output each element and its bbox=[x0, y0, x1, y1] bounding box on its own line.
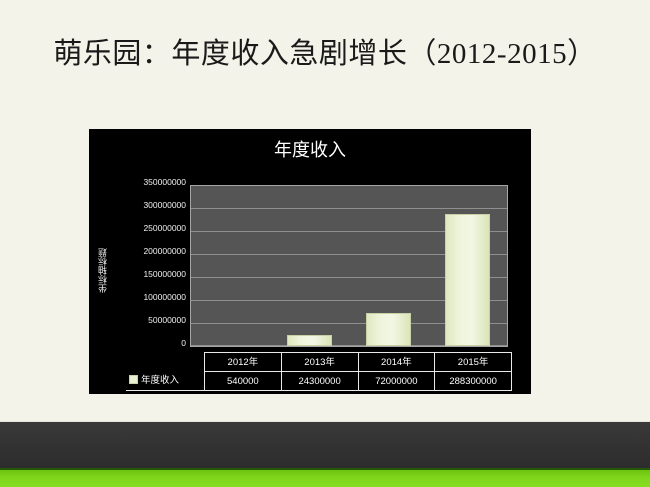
table-row: 年度收入 540000 24300000 72000000 288300000 bbox=[126, 372, 512, 391]
table-cell-2014: 72000000 bbox=[358, 372, 435, 391]
table-header-2013: 2013年 bbox=[281, 353, 358, 372]
legend-swatch-icon bbox=[129, 375, 138, 384]
y-tick-label: 300000000 bbox=[112, 201, 186, 210]
table-row-headers: 2012年 2013年 2014年 2015年 bbox=[126, 353, 512, 372]
table-corner-cell bbox=[126, 353, 205, 372]
y-tick-label: 350000000 bbox=[112, 178, 186, 187]
chart-container[interactable]: 年度收入 坐标轴标题 350000000 300000000 250000000… bbox=[90, 130, 530, 393]
bar-2013[interactable] bbox=[287, 335, 331, 346]
y-tick-label: 100000000 bbox=[112, 293, 186, 302]
footer-dark-band bbox=[0, 421, 650, 471]
footer-green-band bbox=[0, 470, 650, 487]
bar-2015[interactable] bbox=[445, 214, 489, 346]
y-tick-label: 200000000 bbox=[112, 247, 186, 256]
page-title: 萌乐园：年度收入急剧增长（2012-2015） bbox=[0, 34, 650, 74]
y-axis-tick-labels: 350000000 300000000 250000000 200000000 … bbox=[112, 178, 188, 348]
table-cell-2015: 288300000 bbox=[435, 372, 512, 391]
chart-plot-area bbox=[190, 185, 508, 347]
legend-label: 年度收入 bbox=[141, 375, 179, 386]
y-tick-label: 250000000 bbox=[112, 224, 186, 233]
chart-title: 年度收入 bbox=[90, 138, 530, 162]
bar-slot bbox=[428, 186, 507, 346]
legend-entry[interactable]: 年度收入 bbox=[126, 372, 205, 391]
bar-slot bbox=[191, 186, 270, 346]
bar-series bbox=[191, 186, 507, 346]
y-tick-label: 150000000 bbox=[112, 270, 186, 279]
chart-data-table: 2012年 2013年 2014年 2015年 年度收入 540000 2430… bbox=[126, 352, 512, 391]
table-header-2014: 2014年 bbox=[358, 353, 435, 372]
bar-2014[interactable] bbox=[366, 313, 410, 346]
table-cell-2012: 540000 bbox=[205, 372, 282, 391]
table-header-2015: 2015年 bbox=[435, 353, 512, 372]
table-header-2012: 2012年 bbox=[205, 353, 282, 372]
bar-slot bbox=[270, 186, 349, 346]
presentation-slide: 萌乐园：年度收入急剧增长（2012-2015） 年度收入 坐标轴标题 35000… bbox=[0, 0, 650, 487]
bar-slot bbox=[349, 186, 428, 346]
y-tick-label: 0 bbox=[112, 339, 186, 348]
y-tick-label: 50000000 bbox=[112, 316, 186, 325]
table-cell-2013: 24300000 bbox=[281, 372, 358, 391]
y-axis-title: 坐标轴标题 bbox=[98, 226, 112, 316]
